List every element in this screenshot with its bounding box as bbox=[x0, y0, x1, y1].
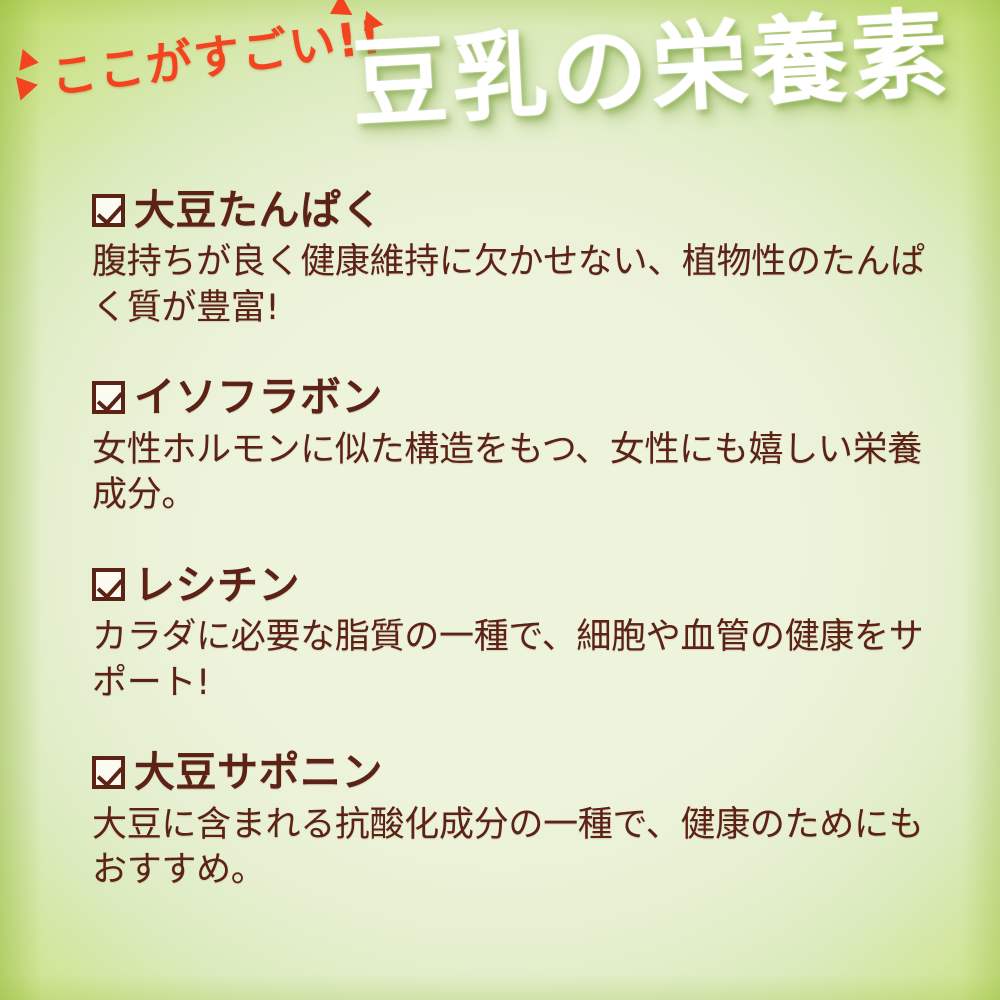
nutrient-heading: 大豆サポニン bbox=[92, 748, 936, 796]
nutrient-description: 腹持ちが良く健康維持に欠かせない、植物性のたんぱく質が豊富! bbox=[92, 240, 936, 331]
nutrient-list: 大豆たんぱく 腹持ちが良く健康維持に欠かせない、植物性のたんぱく質が豊富! イソ… bbox=[0, 186, 1000, 894]
list-item: 大豆たんぱく 腹持ちが良く健康維持に欠かせない、植物性のたんぱく質が豊富! bbox=[0, 186, 1000, 331]
kicker-text: ここがすごい!! bbox=[47, 0, 387, 107]
checkbox-checked-icon bbox=[92, 756, 125, 789]
nutrient-name: イソフラボン bbox=[134, 373, 383, 421]
checkbox-checked-icon bbox=[92, 568, 125, 601]
nutrient-description: 女性ホルモンに似た構造をもつ、女性にも嬉しい栄養成分。 bbox=[92, 428, 936, 519]
red-triangle-left-lower-icon bbox=[16, 73, 40, 100]
nutrient-name: レシチン bbox=[134, 561, 300, 609]
poster-header: ここがすごい!! 豆乳の栄養素 bbox=[0, 0, 1000, 176]
list-item: イソフラボン 女性ホルモンに似た構造をもつ、女性にも嬉しい栄養成分。 bbox=[0, 373, 1000, 518]
list-item: レシチン カラダに必要な脂質の一種で、細胞や血管の健康をサポート! bbox=[0, 561, 1000, 706]
checkbox-checked-icon bbox=[92, 194, 125, 227]
checkbox-checked-icon bbox=[92, 381, 125, 414]
nutrient-name: 大豆たんぱく bbox=[134, 186, 383, 234]
red-triangle-left-icon bbox=[19, 49, 40, 73]
kicker-banner: ここがすごい!! bbox=[13, 0, 381, 130]
nutrient-name: 大豆サポニン bbox=[134, 748, 383, 796]
nutrient-heading: イソフラボン bbox=[92, 373, 936, 421]
list-item: 大豆サポニン 大豆に含まれる抗酸化成分の一種で、健康のためにもおすすめ。 bbox=[0, 748, 1000, 893]
nutrient-description: 大豆に含まれる抗酸化成分の一種で、健康のためにもおすすめ。 bbox=[92, 803, 936, 894]
nutrient-heading: 大豆たんぱく bbox=[92, 186, 936, 234]
page-title: 豆乳の栄養素 bbox=[349, 1, 994, 138]
soymilk-nutrients-poster: ここがすごい!! 豆乳の栄養素 大豆たんぱく 腹持ちが良く健康維持に欠かせない、… bbox=[0, 0, 1000, 1000]
nutrient-heading: レシチン bbox=[92, 561, 936, 609]
nutrient-description: カラダに必要な脂質の一種で、細胞や血管の健康をサポート! bbox=[92, 615, 936, 706]
